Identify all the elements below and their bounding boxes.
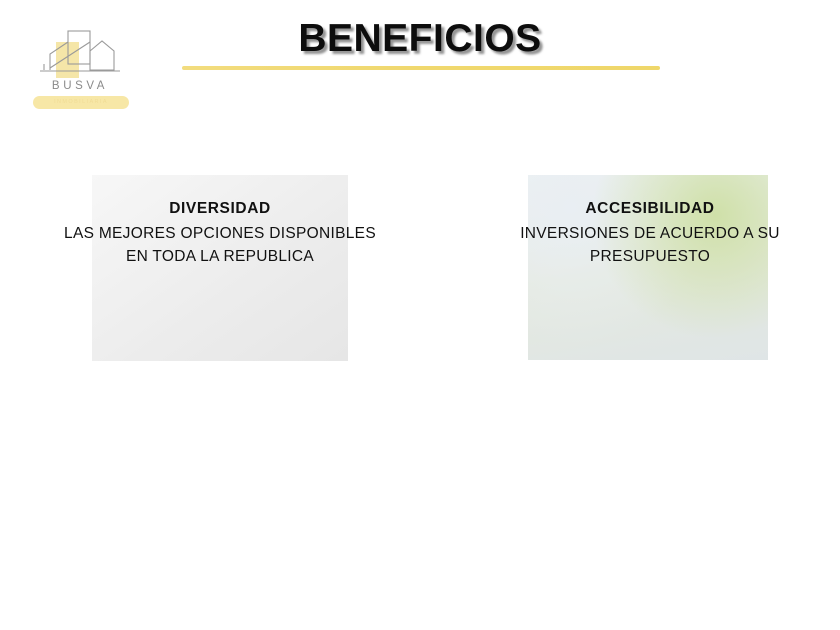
logo-tagline: INMOBILIARIA (33, 97, 129, 108)
benefit-body-line-1: INVERSIONES DE ACUERDO A SU (460, 223, 840, 246)
title-underline-rule (182, 66, 660, 70)
benefit-heading: DIVERSIDAD (20, 200, 420, 218)
benefit-body-line-1: LAS MEJORES OPCIONES DISPONIBLES (20, 223, 420, 246)
benefit-body-line-2: EN TODA LA REPUBLICA (20, 246, 420, 269)
benefit-caption-accesibilidad: ACCESIBILIDAD INVERSIONES DE ACUERDO A S… (460, 200, 840, 269)
logo-wordmark: BUSVA (28, 80, 132, 92)
logo-tagline-pill: INMOBILIARIA (33, 96, 129, 109)
slide-title: BENEFICIOS (0, 17, 840, 61)
benefit-body-line-2: PRESUPUESTO (460, 246, 840, 269)
benefit-heading: ACCESIBILIDAD (460, 200, 840, 218)
benefit-caption-diversidad: DIVERSIDAD LAS MEJORES OPCIONES DISPONIB… (20, 200, 420, 269)
